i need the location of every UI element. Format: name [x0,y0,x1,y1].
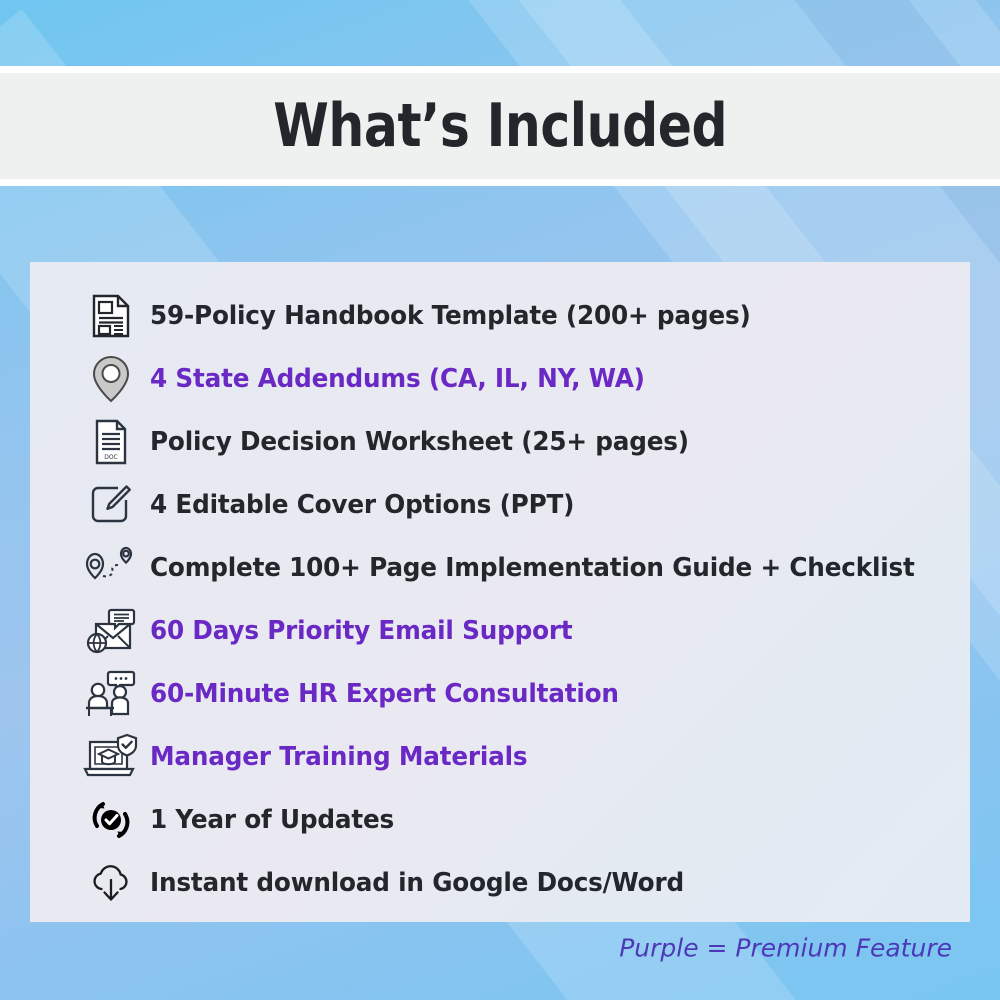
email-globe-icon [72,608,150,654]
list-item-label: Complete 100+ Page Implementation Guide … [150,553,915,583]
slide-canvas: What’s Included 59-Policy Handbook Templ… [0,0,1000,1000]
document-article-icon [72,294,150,338]
list-item: 60-Minute HR Expert Consultation [30,662,970,725]
list-item-label: 60-Minute HR Expert Consultation [150,679,619,709]
page-title: What’s Included [273,96,727,156]
list-item: Instant download in Google Docs/Word [30,851,970,914]
included-items-list: 59-Policy Handbook Template (200+ pages)… [30,284,970,914]
list-item: 59-Policy Handbook Template (200+ pages) [30,284,970,347]
list-item: 4 Editable Cover Options (PPT) [30,473,970,536]
cloud-download-icon [72,863,150,903]
route-pins-icon [72,545,150,591]
list-item-label: 60 Days Priority Email Support [150,616,572,646]
list-item: Complete 100+ Page Implementation Guide … [30,536,970,599]
consultation-people-icon [72,670,150,718]
laptop-training-shield-icon [72,733,150,781]
list-item: 60 Days Priority Email Support [30,599,970,662]
premium-legend: Purple = Premium Feature [619,934,952,963]
list-item-label: 4 State Addendums (CA, IL, NY, WA) [150,364,645,394]
included-items-card: 59-Policy Handbook Template (200+ pages)… [30,262,970,922]
doc-page-icon: DOC [72,419,150,465]
list-item-label: 1 Year of Updates [150,805,394,835]
list-item-label: 4 Editable Cover Options (PPT) [150,490,574,520]
list-item: DOC Policy Decision Worksheet (25+ pages… [30,410,970,473]
list-item-label: Manager Training Materials [150,742,527,772]
map-pin-icon [72,355,150,403]
edit-pencil-square-icon [72,484,150,526]
svg-text:DOC: DOC [104,454,118,461]
list-item-label: Instant download in Google Docs/Word [150,868,684,898]
list-item: 4 State Addendums (CA, IL, NY, WA) [30,347,970,410]
list-item: Manager Training Materials [30,725,970,788]
list-item-label: 59-Policy Handbook Template (200+ pages) [150,301,751,331]
list-item: 1 Year of Updates [30,788,970,851]
refresh-check-icon [72,797,150,843]
header-band: What’s Included [0,66,1000,186]
list-item-label: Policy Decision Worksheet (25+ pages) [150,427,689,457]
